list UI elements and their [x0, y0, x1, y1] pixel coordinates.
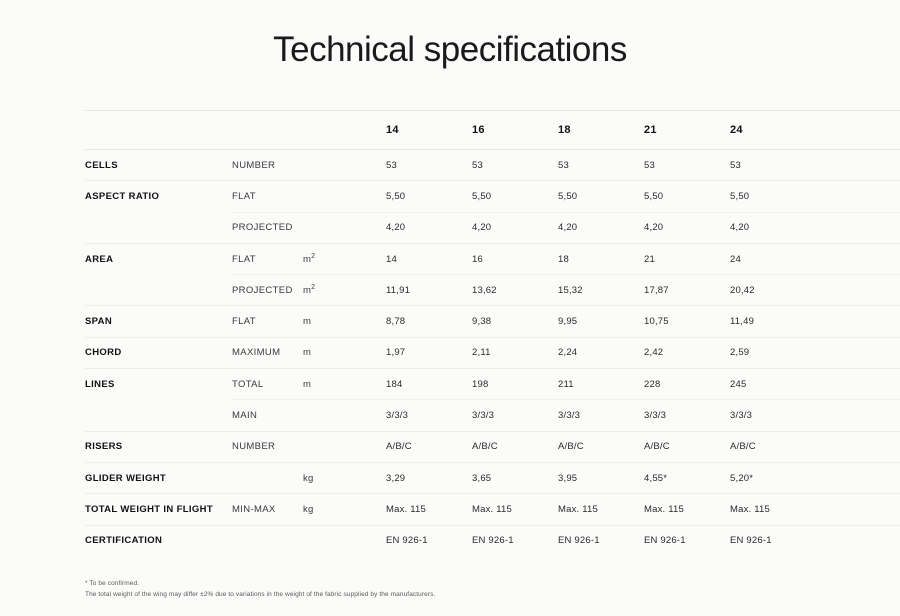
column-header-size-24: 24 [730, 111, 900, 150]
row-value: 16 [472, 243, 558, 274]
row-sublabel [232, 462, 303, 493]
specifications-page: Technical specifications 14 16 [0, 0, 900, 616]
row-value: A/B/C [386, 431, 472, 462]
column-header-size-21: 21 [644, 111, 730, 150]
row-value: 53 [730, 150, 900, 181]
row-label: LINES [85, 369, 232, 400]
row-value: 24 [730, 243, 900, 274]
table-row: TOTAL WEIGHT IN FLIGHTMIN-MAXkgMax. 115M… [85, 494, 900, 525]
table-row: CHORDMAXIMUMm1,972,112,242,422,59 [85, 337, 900, 368]
row-value: 11,91 [386, 275, 472, 306]
row-value: 3/3/3 [472, 400, 558, 431]
page-title: Technical specifications [0, 0, 900, 70]
row-unit [303, 525, 386, 556]
footnotes: * To be confirmed. The total weight of t… [85, 578, 435, 601]
row-value: 3/3/3 [644, 400, 730, 431]
table-row: GLIDER WEIGHTkg3,293,653,954,55*5,20* [85, 462, 900, 493]
row-value: 3/3/3 [558, 400, 644, 431]
row-value: 9,38 [472, 306, 558, 337]
row-value: 3/3/3 [730, 400, 900, 431]
row-value: 5,50 [644, 181, 730, 212]
row-sublabel: MAIN [232, 400, 303, 431]
row-unit: m [303, 306, 386, 337]
row-label: SPAN [85, 306, 232, 337]
table-row: CELLSNUMBER5353535353 [85, 150, 900, 181]
row-value: 4,20 [472, 212, 558, 243]
row-value: 13,62 [472, 275, 558, 306]
table-row: MAIN3/3/33/3/33/3/33/3/33/3/3 [85, 400, 900, 431]
row-value: A/B/C [730, 431, 900, 462]
table-header: 14 16 18 21 24 [85, 111, 900, 150]
row-value: A/B/C [644, 431, 730, 462]
column-header-size-18: 18 [558, 111, 644, 150]
table-row: LINESTOTALm184198211228245 [85, 369, 900, 400]
table-body: CELLSNUMBER5353535353ASPECT RATIOFLAT5,5… [85, 150, 900, 557]
row-value: EN 926-1 [644, 525, 730, 556]
row-label: CHORD [85, 337, 232, 368]
table-row: AREAFLATm21416182124 [85, 243, 900, 274]
row-unit: m2 [303, 243, 386, 274]
row-sublabel: PROJECTED [232, 212, 303, 243]
row-value: Max. 115 [730, 494, 900, 525]
row-label: RISERS [85, 431, 232, 462]
row-value: 3,29 [386, 462, 472, 493]
row-unit [303, 150, 386, 181]
column-header-size-14: 14 [386, 111, 472, 150]
row-label: TOTAL WEIGHT IN FLIGHT [85, 494, 232, 525]
row-label: CERTIFICATION [85, 525, 232, 556]
row-value: 21 [644, 243, 730, 274]
row-value: EN 926-1 [558, 525, 644, 556]
row-sublabel: PROJECTED [232, 275, 303, 306]
row-value: 2,42 [644, 337, 730, 368]
row-unit [303, 400, 386, 431]
row-unit [303, 212, 386, 243]
row-value: 53 [558, 150, 644, 181]
row-value: 184 [386, 369, 472, 400]
row-sublabel: MAXIMUM [232, 337, 303, 368]
footnote-to-be-confirmed: * To be confirmed. [85, 578, 435, 589]
row-value: 18 [558, 243, 644, 274]
row-sublabel: MIN-MAX [232, 494, 303, 525]
row-value: 3/3/3 [386, 400, 472, 431]
row-value: EN 926-1 [472, 525, 558, 556]
row-value: 53 [472, 150, 558, 181]
row-value: 211 [558, 369, 644, 400]
row-value: 5,50 [558, 181, 644, 212]
row-unit [303, 431, 386, 462]
footnote-weight-tolerance: The total weight of the wing may differ … [85, 589, 435, 600]
row-unit: m [303, 337, 386, 368]
row-value: EN 926-1 [730, 525, 900, 556]
row-value: 2,59 [730, 337, 900, 368]
row-value: 53 [644, 150, 730, 181]
row-value: 5,50 [730, 181, 900, 212]
table-row: CERTIFICATIONEN 926-1EN 926-1EN 926-1EN … [85, 525, 900, 556]
row-label: AREA [85, 243, 232, 274]
row-value: 53 [386, 150, 472, 181]
row-value: 5,50 [386, 181, 472, 212]
table-row: SPANFLATm8,789,389,9510,7511,49 [85, 306, 900, 337]
row-value: A/B/C [558, 431, 644, 462]
row-label [85, 275, 232, 306]
row-value: 5,50 [472, 181, 558, 212]
row-value: Max. 115 [558, 494, 644, 525]
row-value: EN 926-1 [386, 525, 472, 556]
row-value: 2,24 [558, 337, 644, 368]
row-sublabel: FLAT [232, 243, 303, 274]
column-header-size-16: 16 [472, 111, 558, 150]
specifications-table: 14 16 18 21 24 CELLSNUMBER5353535353ASPE… [85, 110, 900, 556]
row-unit: m2 [303, 275, 386, 306]
row-label: CELLS [85, 150, 232, 181]
row-value: 5,20* [730, 462, 900, 493]
row-value: 15,32 [558, 275, 644, 306]
table-row: PROJECTED4,204,204,204,204,20 [85, 212, 900, 243]
header-spacer-unit [303, 111, 386, 150]
row-value: 1,97 [386, 337, 472, 368]
row-value: 4,55* [644, 462, 730, 493]
row-value: 20,42 [730, 275, 900, 306]
row-unit: m [303, 369, 386, 400]
row-value: 4,20 [730, 212, 900, 243]
table-header-row: 14 16 18 21 24 [85, 111, 900, 150]
row-value: 2,11 [472, 337, 558, 368]
row-value: 4,20 [558, 212, 644, 243]
row-value: 3,95 [558, 462, 644, 493]
row-sublabel: NUMBER [232, 431, 303, 462]
row-value: 14 [386, 243, 472, 274]
row-label: ASPECT RATIO [85, 181, 232, 212]
row-label: GLIDER WEIGHT [85, 462, 232, 493]
row-sublabel [232, 525, 303, 556]
row-sublabel: TOTAL [232, 369, 303, 400]
row-value: 10,75 [644, 306, 730, 337]
row-label [85, 212, 232, 243]
row-label [85, 400, 232, 431]
row-unit [303, 181, 386, 212]
row-unit: kg [303, 462, 386, 493]
row-value: 4,20 [386, 212, 472, 243]
row-value: Max. 115 [472, 494, 558, 525]
row-unit: kg [303, 494, 386, 525]
row-sublabel: FLAT [232, 306, 303, 337]
row-value: 3,65 [472, 462, 558, 493]
row-value: 9,95 [558, 306, 644, 337]
table-row: RISERSNUMBERA/B/CA/B/CA/B/CA/B/CA/B/C [85, 431, 900, 462]
row-value: 17,87 [644, 275, 730, 306]
row-value: Max. 115 [386, 494, 472, 525]
row-value: 4,20 [644, 212, 730, 243]
row-value: 198 [472, 369, 558, 400]
row-value: 8,78 [386, 306, 472, 337]
row-value: 228 [644, 369, 730, 400]
row-value: 11,49 [730, 306, 900, 337]
table-row: ASPECT RATIOFLAT5,505,505,505,505,50 [85, 181, 900, 212]
row-sublabel: FLAT [232, 181, 303, 212]
row-sublabel: NUMBER [232, 150, 303, 181]
specifications-table-container: 14 16 18 21 24 CELLSNUMBER5353535353ASPE… [85, 110, 818, 556]
row-value: A/B/C [472, 431, 558, 462]
row-value: 245 [730, 369, 900, 400]
header-spacer-label [85, 111, 232, 150]
table-row: PROJECTEDm211,9113,6215,3217,8720,42 [85, 275, 900, 306]
header-spacer-sub [232, 111, 303, 150]
row-value: Max. 115 [644, 494, 730, 525]
